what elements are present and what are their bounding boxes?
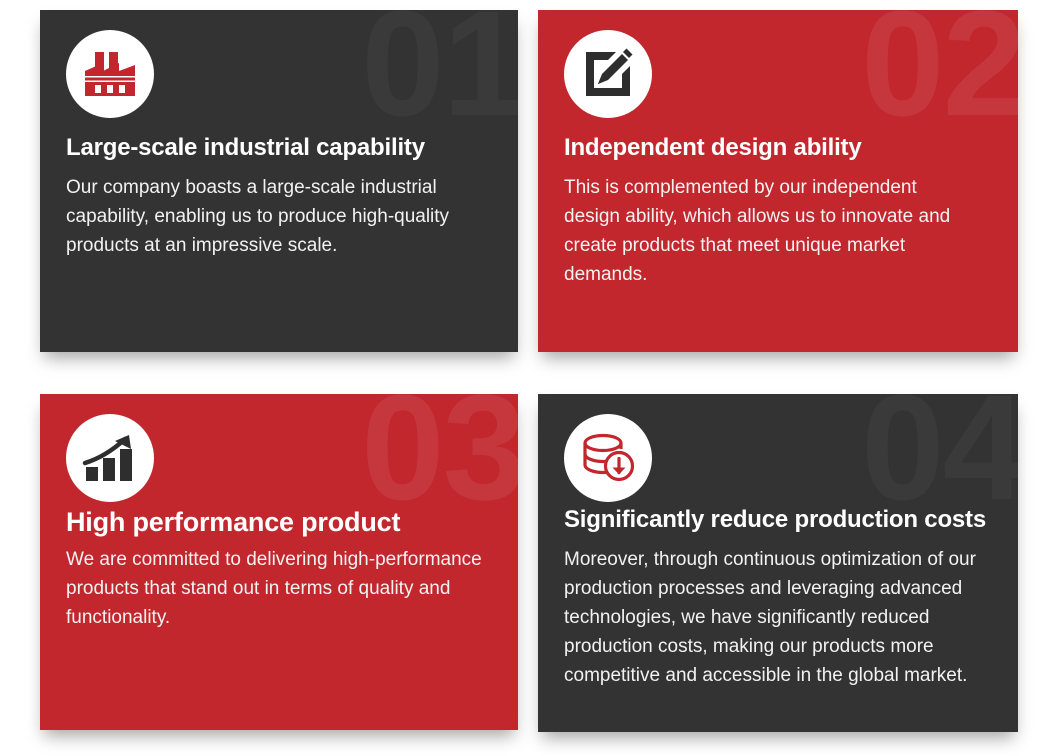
card-body-text: Our company boasts a large-scale industr…: [66, 174, 498, 261]
factory-icon: [66, 30, 154, 118]
card-number-watermark: 01: [361, 10, 518, 138]
card-title: Independent design ability: [564, 134, 996, 163]
feature-card-4[interactable]: 04 Significantly reduce production costs…: [538, 394, 1018, 732]
card-body-text: Moreover, through continuous optimizatio…: [564, 546, 996, 690]
card-body-text: We are committed to delivering high-perf…: [66, 546, 486, 633]
feature-card-board: 01 Large-scale industrial capability Our…: [0, 0, 1060, 756]
card-title: High performance product: [66, 506, 496, 538]
growth-bar-chart-arrow-icon: [66, 414, 154, 502]
edit-pencil-square-icon: [564, 30, 652, 118]
card-body-text: This is complemented by our independent …: [564, 174, 966, 290]
card-title: Large-scale industrial capability: [66, 134, 496, 163]
card-number-watermark: 04: [861, 394, 1018, 522]
card-number-watermark: 02: [861, 10, 1018, 138]
feature-card-1[interactable]: 01 Large-scale industrial capability Our…: [40, 10, 518, 352]
card-number-watermark: 03: [361, 394, 518, 522]
feature-card-3[interactable]: 03 High performance product We are commi…: [40, 394, 518, 730]
feature-card-2[interactable]: 02 Independent design ability This is co…: [538, 10, 1018, 352]
card-title: Significantly reduce production costs: [564, 506, 996, 535]
database-cost-reduction-icon: [564, 414, 652, 502]
